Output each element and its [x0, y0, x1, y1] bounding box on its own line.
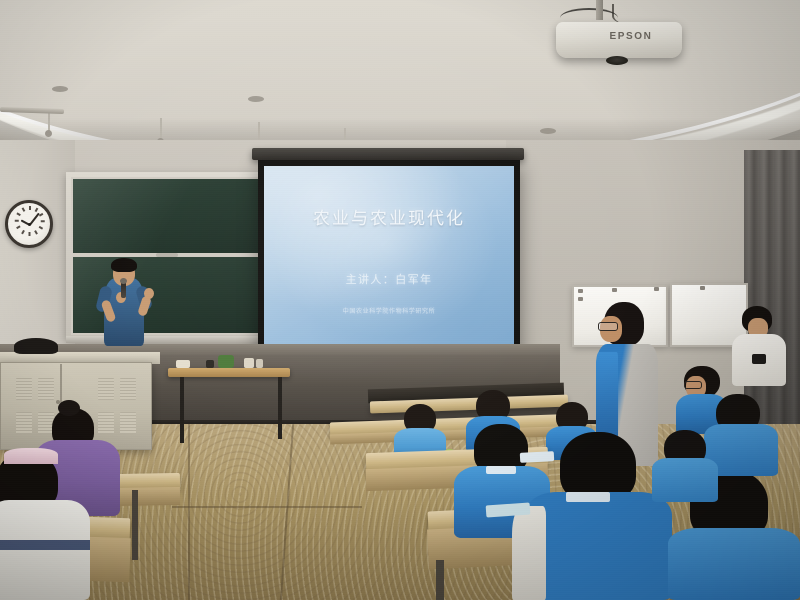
headband	[4, 448, 58, 464]
whiteboard-clip	[700, 286, 705, 290]
cabinet-vent	[16, 412, 32, 434]
ceiling-recess-fitting	[540, 128, 556, 134]
cabinet-vent	[16, 378, 32, 400]
cabinet-vent	[98, 412, 114, 434]
projector-cable	[612, 4, 652, 24]
slide-title: 农业与农业现代化	[264, 204, 514, 229]
wall-clock	[5, 200, 53, 248]
standing-student-jacket-blue-panel	[596, 352, 618, 444]
table-small-object	[206, 360, 214, 368]
chalk-tray	[66, 336, 266, 343]
ceiling-recess-fitting	[248, 96, 264, 102]
lecture-table-leg	[278, 377, 282, 439]
clock-center-pin	[28, 223, 31, 226]
table-papers	[176, 360, 190, 368]
clock-face	[8, 203, 50, 245]
microphone-head	[120, 278, 127, 284]
student-hair-bun-knot	[58, 400, 80, 416]
projector-mount-arm	[596, 0, 603, 20]
clock-minute-hand	[29, 213, 39, 226]
desk-paper	[520, 451, 554, 463]
classroom-photo: EPSON 农业与农	[0, 0, 800, 600]
table-cup	[244, 358, 254, 368]
presenter-hand	[144, 288, 154, 299]
ceiling-recess-fitting	[52, 86, 68, 92]
student-uniform-shirt	[524, 492, 672, 600]
ceiling-hanger-knob	[45, 130, 52, 137]
projector-brand-label: EPSON	[598, 31, 664, 42]
lecture-table-top	[168, 368, 290, 377]
whiteboard-clip	[578, 289, 583, 293]
whiteboard-clip	[578, 297, 583, 301]
microphone[interactable]	[121, 282, 126, 298]
table-plant-pot	[218, 355, 234, 368]
desk-leg	[436, 560, 444, 600]
lecture-table-leg	[180, 377, 184, 443]
floor-grout-line	[188, 424, 190, 600]
eyeglasses-icon	[598, 322, 618, 331]
cabinet-vent	[38, 378, 54, 400]
projected-slide	[264, 166, 514, 350]
cabinet-vent	[98, 378, 114, 400]
cabinet-vent	[120, 412, 136, 434]
jacket-stripe	[0, 540, 90, 550]
table-box	[256, 359, 263, 368]
student-front-left-jacket	[0, 500, 90, 600]
projector-lens	[606, 56, 628, 65]
desk-leg	[132, 490, 138, 560]
mobile-phone[interactable]	[752, 354, 766, 364]
whiteboard-clip	[612, 288, 617, 292]
ceiling-hanger-rod	[160, 118, 162, 140]
whiteboard-clip	[654, 287, 659, 291]
cabinet-top-bag	[14, 338, 58, 354]
student-uniform-shirt	[652, 458, 718, 502]
slide-speaker-line: 主讲人：白军年	[264, 271, 514, 287]
eyeglasses-icon	[684, 381, 702, 389]
projection-screen-case	[252, 148, 524, 160]
floor-grout-line	[172, 506, 362, 508]
student-uniform-shirt	[668, 528, 800, 600]
chalkboard-slide-handle[interactable]	[156, 253, 178, 257]
cabinet-vent	[120, 378, 136, 400]
presenter-hair	[111, 258, 137, 272]
slide-affiliation: 中国农业科学院作物科学研究所	[264, 306, 514, 315]
student-sleeve-white	[512, 506, 546, 600]
